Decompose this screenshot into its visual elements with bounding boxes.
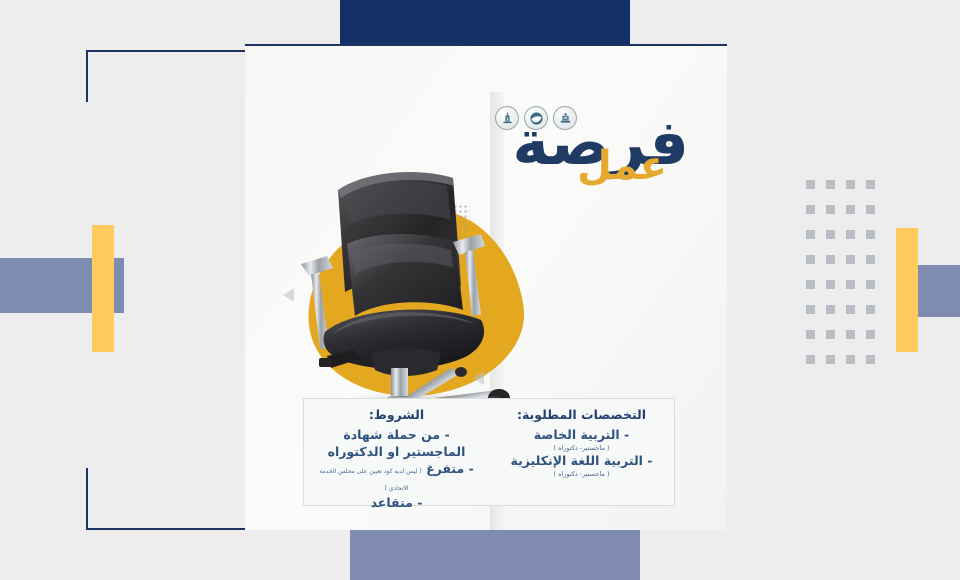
grid-dot xyxy=(826,280,835,289)
grid-dot xyxy=(806,355,815,364)
yellow-right-accent-bar xyxy=(896,228,918,352)
yellow-left-accent-bar xyxy=(92,225,114,352)
grid-dot xyxy=(806,205,815,214)
grid-dot xyxy=(806,180,815,189)
frame-line-left-bottom xyxy=(86,468,88,530)
specializations-item-note: ( ماجستير- دكتوراه ) xyxy=(501,444,662,452)
grid-dot xyxy=(866,205,875,214)
dot-grid-pattern xyxy=(795,180,875,380)
grid-dot xyxy=(846,355,855,364)
specializations-item: - التربية اللغة الإنكليزية ( ماجستير- دك… xyxy=(501,453,662,478)
grid-dot xyxy=(866,180,875,189)
poster-info-panel: التخصصات المطلوبة: - التربية الخاصة ( ما… xyxy=(303,398,675,506)
poster-mockup-canvas: فرصة عمل xyxy=(0,0,960,580)
grid-dot xyxy=(806,255,815,264)
conditions-item-label: - متقاعد xyxy=(316,495,477,512)
frame-line-left-top xyxy=(86,50,88,102)
grid-dot xyxy=(866,355,875,364)
grid-dot xyxy=(806,305,815,314)
grid-dot xyxy=(846,330,855,339)
grid-dot xyxy=(826,305,835,314)
grid-dot xyxy=(866,305,875,314)
specializations-heading: التخصصات المطلوبة: xyxy=(501,407,662,422)
conditions-item-note: ( ليس لديه كود تعيين على مجلس الخدمة الا… xyxy=(319,468,421,492)
conditions-heading: الشروط: xyxy=(316,407,477,422)
grid-dot xyxy=(846,205,855,214)
grid-dot xyxy=(866,230,875,239)
specializations-column: التخصصات المطلوبة: - التربية الخاصة ( ما… xyxy=(489,399,674,505)
grid-dot xyxy=(806,230,815,239)
grid-dot xyxy=(866,255,875,264)
poster-title-sub: عمل xyxy=(577,146,667,186)
grid-dot xyxy=(866,330,875,339)
grid-dot xyxy=(806,280,815,289)
conditions-item-label: - من حملة شهادة الماجستير او الدكتوراه xyxy=(316,427,477,461)
conditions-item-text: - متفرغ xyxy=(426,461,474,476)
grid-dot xyxy=(826,330,835,339)
grid-dot xyxy=(846,180,855,189)
specializations-item-label: - التربية الخاصة xyxy=(501,427,662,444)
grid-dot xyxy=(846,255,855,264)
grid-dot xyxy=(806,330,815,339)
navy-top-accent-bar xyxy=(340,0,630,46)
grid-dot xyxy=(826,205,835,214)
specializations-item-note: ( ماجستير- دكتوراه ) xyxy=(501,470,662,478)
grid-dot xyxy=(846,230,855,239)
slate-right-accent-bar xyxy=(913,265,960,317)
grid-dot xyxy=(826,355,835,364)
specializations-item: - التربية الخاصة ( ماجستير- دكتوراه ) xyxy=(501,427,662,452)
grid-dot xyxy=(826,230,835,239)
specializations-item-label: - التربية اللغة الإنكليزية xyxy=(501,453,662,470)
job-opportunity-poster: فرصة عمل xyxy=(245,46,727,530)
grid-dot xyxy=(826,255,835,264)
grid-dot xyxy=(866,280,875,289)
grid-dot xyxy=(826,180,835,189)
conditions-column: الشروط: - من حملة شهادة الماجستير او الد… xyxy=(304,399,489,505)
grid-dot xyxy=(846,280,855,289)
conditions-item-label: - متفرغ ( ليس لديه كود تعيين على مجلس ال… xyxy=(316,461,477,495)
grid-dot xyxy=(846,305,855,314)
